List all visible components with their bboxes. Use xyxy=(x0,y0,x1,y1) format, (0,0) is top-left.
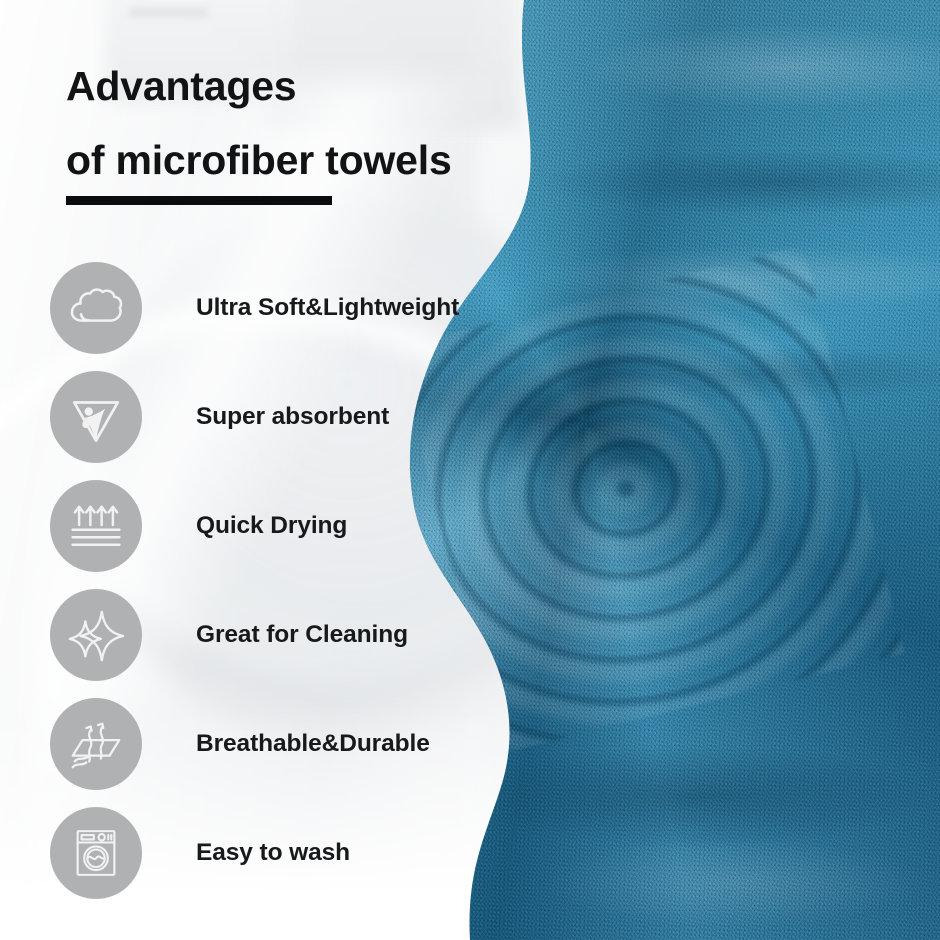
feature-item-breathable-durable: Breathable&Durable xyxy=(50,698,430,790)
feature-label: Great for Cleaning xyxy=(196,621,408,649)
sparkle-clean-icon xyxy=(65,604,127,666)
feature-label: Ultra Soft&Lightweight xyxy=(196,294,459,322)
feature-icon-badge xyxy=(50,807,142,899)
feature-label: Super absorbent xyxy=(196,403,389,431)
absorbent-funnel-icon xyxy=(67,388,125,446)
washing-machine-icon xyxy=(68,825,124,881)
product-feature-poster: Advantages of microfiber towels Ultra So… xyxy=(0,0,940,940)
feature-item-great-for-cleaning: Great for Cleaning xyxy=(50,589,408,681)
breathable-mesh-icon xyxy=(65,713,127,775)
feature-item-super-absorbent: Super absorbent xyxy=(50,371,389,463)
feature-icon-badge xyxy=(50,262,142,354)
feature-label: Quick Drying xyxy=(196,512,347,540)
title-underline-rule xyxy=(66,196,332,205)
feature-label: Breathable&Durable xyxy=(196,730,430,758)
quick-drying-icon xyxy=(66,496,126,556)
feature-item-quick-drying: Quick Drying xyxy=(50,480,347,572)
feature-icon-badge xyxy=(50,480,142,572)
feature-icon-badge xyxy=(50,589,142,681)
feature-icon-badge xyxy=(50,698,142,790)
title-line-2: of microfiber towels xyxy=(66,140,536,181)
feature-icon-badge xyxy=(50,371,142,463)
feature-label: Easy to wash xyxy=(196,839,350,867)
page-title: Advantages of microfiber towels xyxy=(66,66,536,181)
feature-item-soft-lightweight: Ultra Soft&Lightweight xyxy=(50,262,459,354)
feature-item-easy-to-wash: Easy to wash xyxy=(50,807,350,899)
title-line-1: Advantages xyxy=(66,66,536,107)
cloud-icon xyxy=(65,277,127,339)
